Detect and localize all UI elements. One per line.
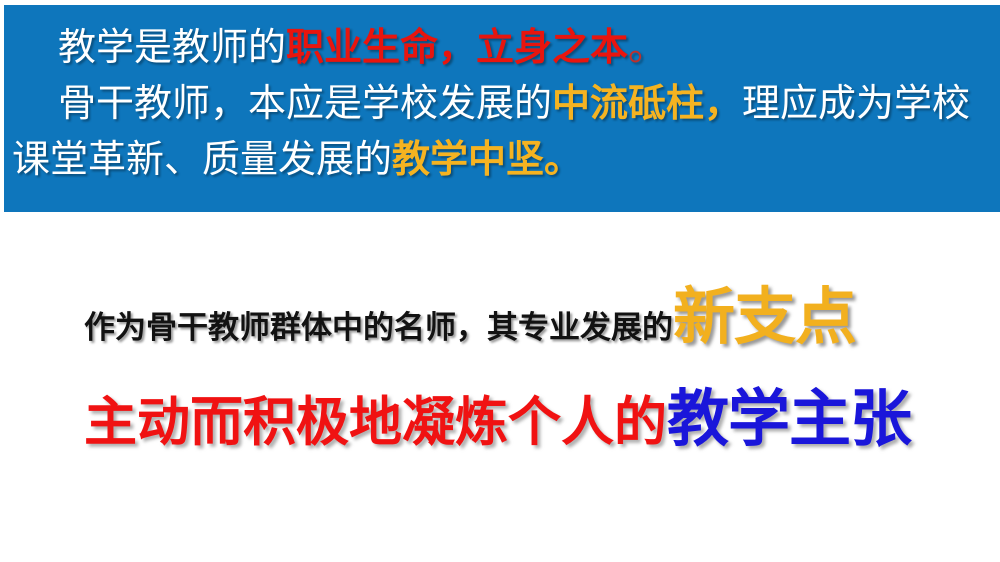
banner-line-3-segment-white: 课堂革新、质量发展的 bbox=[12, 137, 392, 181]
banner-line-2-segment-white-a: 骨干教师，本应是学校发展的 bbox=[58, 81, 552, 125]
banner-line-1-segment-red: 职业生命，立身之本 bbox=[286, 25, 628, 69]
slide-canvas: 教学是教师的职业生命，立身之本。 骨干教师，本应是学校发展的中流砥柱，理应成为学… bbox=[0, 0, 1000, 562]
banner-line-2: 骨干教师，本应是学校发展的中流砥柱，理应成为学校 bbox=[12, 75, 992, 131]
bottom-highlight-text: 教学主张 bbox=[667, 382, 911, 455]
banner-line-2-segment-white-b: 理应成为学校 bbox=[742, 81, 970, 125]
banner-line-3-segment-gold: 教学中坚。 bbox=[392, 137, 582, 181]
banner-line-2-segment-gold: 中流砥柱， bbox=[552, 81, 742, 125]
banner-line-1: 教学是教师的职业生命，立身之本。 bbox=[12, 19, 992, 75]
banner-line-1-segment-white: 教学是教师的 bbox=[58, 25, 286, 69]
blue-banner-panel: 教学是教师的职业生命，立身之本。 骨干教师，本应是学校发展的中流砥柱，理应成为学… bbox=[4, 5, 1000, 212]
bottom-statement-line: 主动而积极地凝炼个人的教学主张 bbox=[84, 388, 911, 450]
banner-line-1-segment-period: 。 bbox=[628, 25, 666, 69]
middle-lead-text: 作为骨干教师群体中的名师，其专业发展的 bbox=[84, 310, 673, 346]
banner-line-3: 课堂革新、质量发展的教学中坚。 bbox=[12, 131, 992, 187]
bottom-lead-text: 主动而积极地凝炼个人的 bbox=[84, 392, 667, 453]
middle-highlight-text: 新支点 bbox=[673, 280, 856, 353]
middle-statement-line: 作为骨干教师群体中的名师，其专业发展的新支点 bbox=[84, 286, 856, 348]
